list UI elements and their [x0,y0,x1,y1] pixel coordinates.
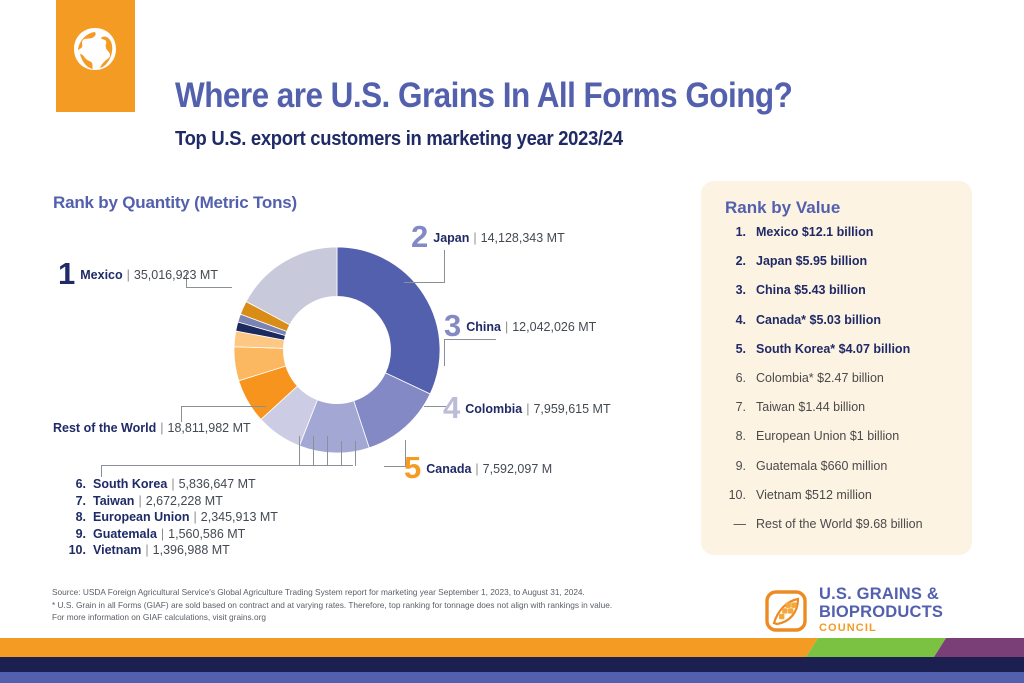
list-name: European Union [86,510,190,524]
logo-line-2: BIOPRODUCTS [819,604,943,622]
value-index: 1. [725,225,756,239]
callout-china: 3China|12,042,026 MT [444,310,596,341]
source-line-3: For more information on GIAF calculation… [52,611,672,624]
value-row: 7. Taiwan $1.44 billion [725,400,965,429]
leader-line-group-v [101,465,102,477]
value-text: China $5.43 billion [756,283,866,297]
leader-line-group-h [101,465,353,466]
callout-japan: 2Japan|14,128,343 MT [411,221,565,252]
page-title: Where are U.S. Grains In All Forms Going… [175,76,792,116]
leader-line-tick-10 [355,441,356,466]
stripe-orange [0,638,818,657]
stripe-purple [934,638,1024,657]
stripe-green [806,638,946,657]
list-item: 9.Guatemala|1,560,586 MT [62,527,278,541]
quantity-donut-chart [232,245,442,455]
callout-value-3: 12,042,026 MT [512,320,596,334]
header: Where are U.S. Grains In All Forms Going… [0,0,1024,175]
donut-slice-mexico [337,247,440,394]
leader-line-tick-7 [313,436,314,466]
globe-icon [70,24,120,86]
value-row: 1. Mexico $12.1 billion [725,225,965,254]
callout-rest-of-world: Rest of the World|18,811,982 MT [53,419,251,437]
callout-rank-1: 1 [58,258,75,289]
value-heading: Rank by Value [725,198,840,218]
value-row: 3. China $5.43 billion [725,283,965,312]
leader-line-japan-h [404,282,445,283]
callout-name-3: China [466,320,501,334]
row-name: Rest of the World [53,421,156,435]
leader-line-canada [384,466,406,467]
callout-value-1: 35,016,923 MT [134,268,218,282]
value-row: 8. European Union $1 billion [725,429,965,458]
leader-line-tick-9 [341,441,342,466]
callout-value-5: 7,592,097 M [483,462,553,476]
value-text: South Korea* $4.07 billion [756,342,910,356]
list-sep: | [141,543,152,557]
value-index: — [725,517,756,531]
callout-sep-4: | [522,402,533,416]
callout-name-4: Colombia [465,402,522,416]
value-row: 2. Japan $5.95 billion [725,254,965,283]
list-value: 5,836,647 MT [179,477,256,491]
list-index: 7. [62,494,86,508]
value-list: 1. Mexico $12.1 billion 2. Japan $5.95 b… [725,225,965,546]
value-text: Rest of the World $9.68 billion [756,517,923,531]
value-index: 3. [725,283,756,297]
globe-logo-block [56,0,135,112]
value-text: Guatemala $660 million [756,459,887,473]
list-name: South Korea [86,477,167,491]
leader-line-tick-8 [327,436,328,466]
list-sep: | [134,494,145,508]
callout-name-2: Japan [433,231,469,245]
value-index: 9. [725,459,756,473]
list-value: 2,345,913 MT [201,510,278,524]
callout-value-4: 7,959,615 MT [533,402,610,416]
value-text: European Union $1 billion [756,429,899,443]
source-note: Source: USDA Foreign Agricultural Servic… [52,586,672,624]
list-index: 9. [62,527,86,541]
callout-name-5: Canada [426,462,471,476]
list-sep: | [157,527,168,541]
list-item: 10.Vietnam|1,396,988 MT [62,543,278,557]
list-item: 6.South Korea|5,836,647 MT [62,477,278,491]
list-value: 1,396,988 MT [153,543,230,557]
value-panel: Rank by Value 1. Mexico $12.1 billion 2.… [701,181,972,555]
source-line-2: * U.S. Grain in all Forms (GIAF) are sol… [52,599,672,612]
callout-sep-1: | [123,268,134,282]
leader-line-tick-6 [299,436,300,466]
value-text: Canada* $5.03 billion [756,313,881,327]
stripe-navy [0,657,1024,672]
callout-sep-3: | [501,320,512,334]
callout-canada: 5Canada|7,592,097 M [404,452,552,483]
value-index: 10. [725,488,756,502]
list-value: 1,560,586 MT [168,527,245,541]
value-index: 6. [725,371,756,385]
value-row: 5. South Korea* $4.07 billion [725,342,965,371]
list-item: 8.European Union|2,345,913 MT [62,510,278,524]
stripe-blue [0,672,1024,683]
value-index: 8. [725,429,756,443]
footer-stripes [0,630,1024,683]
callout-sep-2: | [469,231,480,245]
leader-line-row-h [181,406,266,407]
callout-colombia: 4Colombia|7,959,615 MT [443,392,611,423]
leader-line-japan-v [444,250,445,283]
source-line-1: Source: USDA Foreign Agricultural Servic… [52,586,672,599]
value-text: Japan $5.95 billion [756,254,867,268]
row-sep: | [156,421,167,435]
quantity-list-6-10: 6.South Korea|5,836,647 MT 7.Taiwan|2,67… [62,477,278,560]
value-row: 6. Colombia* $2.47 billion [725,371,965,400]
list-index: 8. [62,510,86,524]
callout-sep-5: | [471,462,482,476]
list-index: 10. [62,543,86,557]
list-sep: | [167,477,178,491]
grains-leaf-icon [765,590,807,632]
page-subtitle: Top U.S. export customers in marketing y… [175,128,623,151]
list-name: Guatemala [86,527,157,541]
callout-rank-5: 5 [404,452,421,483]
list-item: 7.Taiwan|2,672,228 MT [62,494,278,508]
list-name: Vietnam [86,543,141,557]
value-text: Vietnam $512 million [756,488,872,502]
value-index: 4. [725,313,756,327]
value-row: 10. Vietnam $512 million [725,488,965,517]
list-index: 6. [62,477,86,491]
value-text: Taiwan $1.44 billion [756,400,865,414]
value-index: 2. [725,254,756,268]
callout-mexico: 1Mexico|35,016,923 MT [58,258,218,289]
value-index: 7. [725,400,756,414]
callout-rank-3: 3 [444,310,461,341]
value-text: Colombia* $2.47 billion [756,371,884,385]
quantity-heading: Rank by Quantity (Metric Tons) [53,193,297,213]
callout-rank-2: 2 [411,221,428,252]
value-row: — Rest of the World $9.68 billion [725,517,965,546]
callout-rank-4: 4 [443,392,460,423]
leader-line-china-v [444,340,445,366]
value-row: 4. Canada* $5.03 billion [725,313,965,342]
list-sep: | [190,510,201,524]
callout-name-1: Mexico [80,268,122,282]
logo-line-1: U.S. GRAINS & [819,586,943,604]
logo-title: U.S. GRAINS & BIOPRODUCTS [819,586,943,621]
value-text: Mexico $12.1 billion [756,225,873,239]
callout-value-2: 14,128,343 MT [481,231,565,245]
list-value: 2,672,228 MT [146,494,223,508]
value-row: 9. Guatemala $660 million [725,459,965,488]
row-value: 18,811,982 MT [168,421,251,435]
list-name: Taiwan [86,494,134,508]
value-index: 5. [725,342,756,356]
